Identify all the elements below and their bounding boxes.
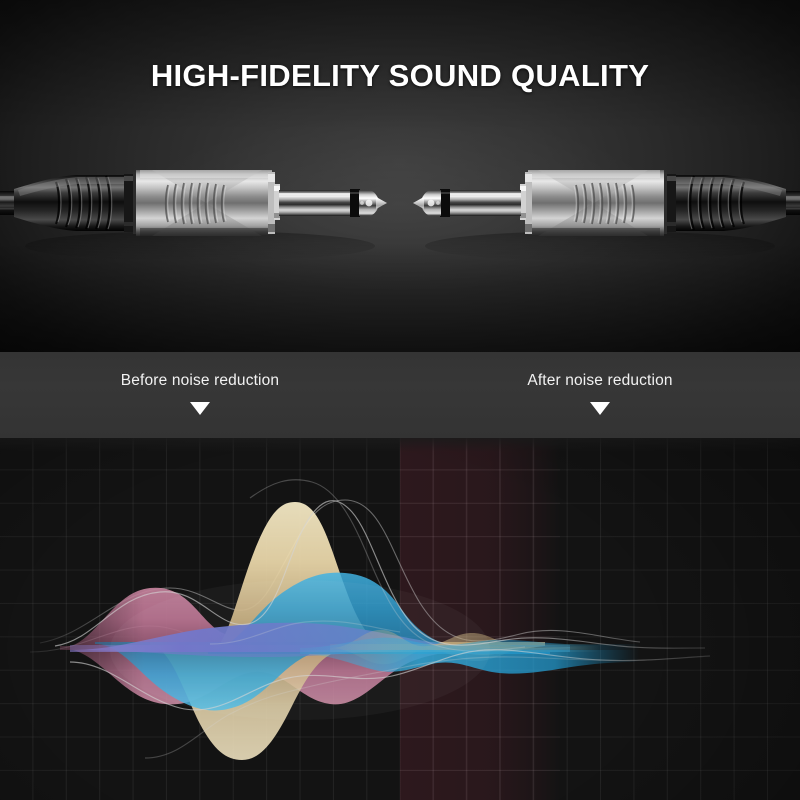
waveform-top-fade (0, 438, 800, 452)
product-infographic-page: HIGH-FIDELITY SOUND QUALITY (0, 0, 800, 800)
after-noise-reduction-label: After noise reduction (400, 372, 800, 390)
before-noise-reduction-label: Before noise reduction (0, 372, 400, 390)
right-jack-connector (413, 170, 800, 236)
comparison-label-strip: Before noise reduction After noise reduc… (0, 352, 800, 438)
hero-product-section: HIGH-FIDELITY SOUND QUALITY (0, 0, 800, 352)
page-title: HIGH-FIDELITY SOUND QUALITY (0, 58, 800, 94)
cable-assembly (0, 0, 800, 352)
waveform-bloom (110, 580, 490, 720)
waveform-comparison-panel (0, 438, 800, 800)
after-label-group: After noise reduction (400, 352, 800, 438)
waveform-graphic (0, 438, 800, 800)
left-jack-connector (0, 170, 387, 236)
cable-illustration (0, 0, 800, 352)
after-caret-down-icon (590, 402, 610, 415)
before-label-group: Before noise reduction (0, 352, 400, 438)
before-caret-down-icon (190, 402, 210, 415)
